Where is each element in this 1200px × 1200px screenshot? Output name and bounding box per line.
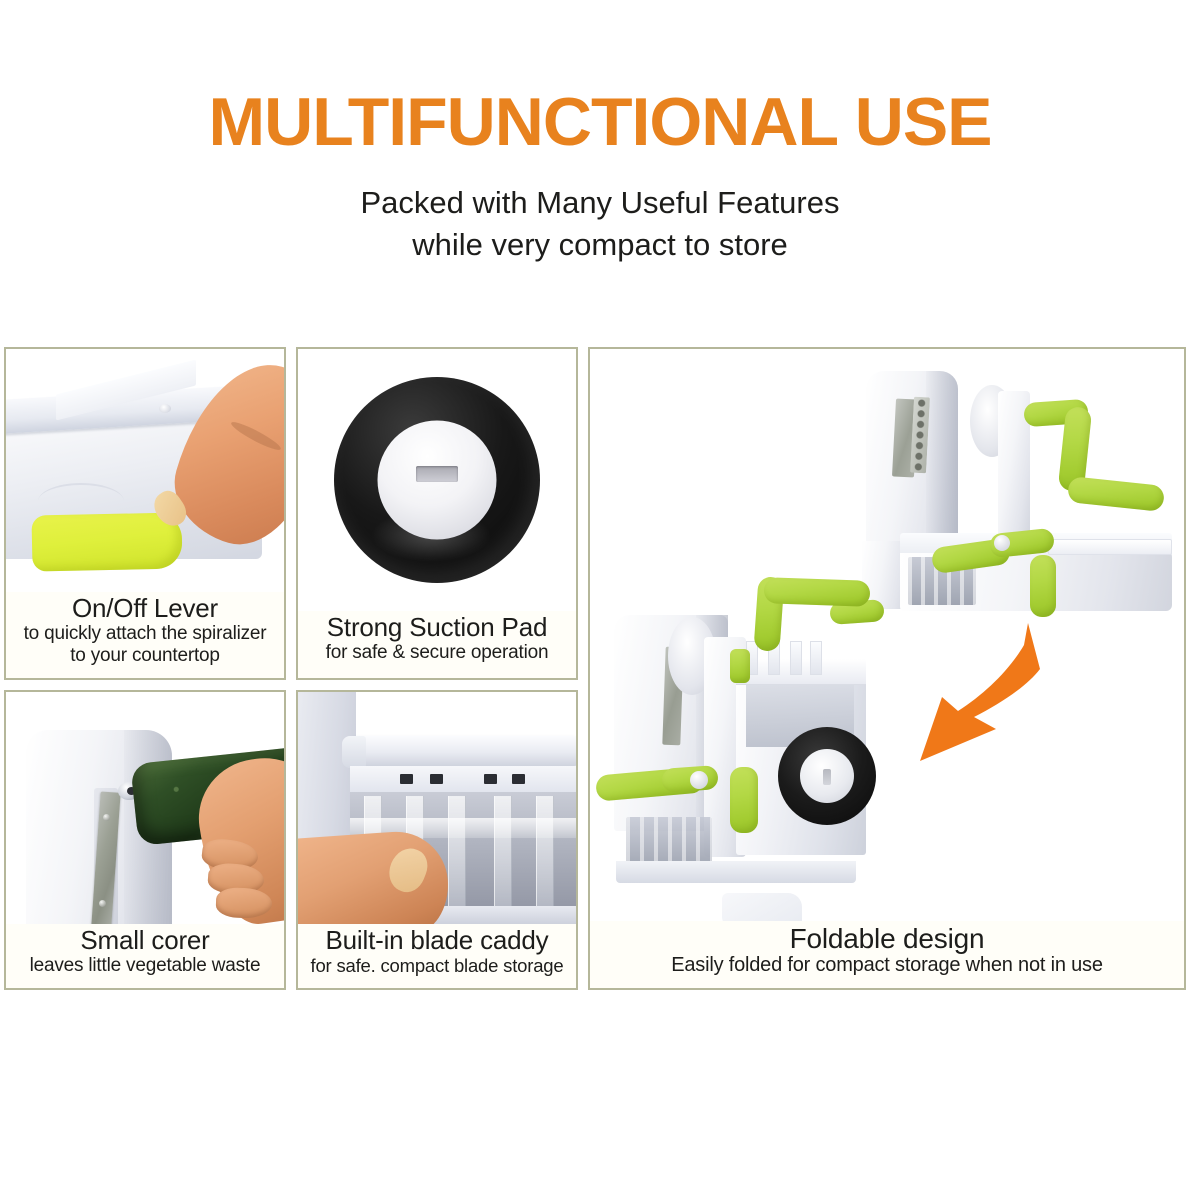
caption-foldable-design: Foldable design Easily folded for compac… (590, 921, 1184, 988)
caddy-top-rail-shape (350, 736, 576, 766)
folded-green-tab-shape (730, 649, 750, 683)
caption-subtitle-line-1: to quickly attach the spiralizer (10, 623, 280, 645)
green-lever-middle-shape (1030, 555, 1056, 617)
feature-panel-on-off-lever: On/Off Lever to quickly attach the spira… (4, 347, 286, 680)
caption-title: Small corer (10, 926, 280, 955)
subtitle-line-1: Packed with Many Useful Features (0, 182, 1200, 224)
photo-suction-pad (298, 349, 576, 611)
feature-panel-suction-pad: Strong Suction Pad for safe & secure ope… (296, 347, 578, 680)
screw-detail-shape (159, 404, 171, 413)
caption-subtitle-line-1: Easily folded for compact storage when n… (594, 954, 1180, 977)
caption-subtitle-line-1: leaves little vegetable waste (10, 955, 280, 977)
folded-fin-3 (790, 641, 802, 675)
feature-panel-foldable-design: Foldable design Easily folded for compac… (588, 347, 1186, 990)
pivot-screw-shape (994, 535, 1010, 551)
suction-pad-slot-shape (823, 769, 831, 785)
folded-pivot-screw-shape (690, 771, 708, 789)
folded-crank-handle-shape (764, 577, 871, 607)
infographic-page: MULTIFUNCTIONAL USE Packed with Many Use… (0, 0, 1200, 1200)
crank-handle-shape (1067, 476, 1165, 512)
caption-blade-caddy: Built-in blade caddy for safe. compact b… (298, 924, 576, 988)
photo-foldable-design (590, 349, 1184, 921)
caption-title: Foldable design (594, 923, 1180, 954)
curved-arrow-down-left-icon (878, 611, 1064, 797)
caption-title: Strong Suction Pad (302, 613, 572, 642)
thumb-shape (298, 828, 451, 924)
folded-lever-vertical-shape (730, 767, 758, 833)
header: MULTIFUNCTIONAL USE Packed with Many Use… (0, 0, 1200, 265)
page-title: MULTIFUNCTIONAL USE (0, 88, 1200, 156)
blade-rivet-top-shape (103, 814, 110, 821)
caption-subtitle-line-1: for safe. compact blade storage (302, 955, 572, 976)
caption-title: Built-in blade caddy (302, 926, 572, 955)
caption-title: On/Off Lever (10, 594, 280, 623)
page-subtitle: Packed with Many Useful Features while v… (0, 182, 1200, 265)
photo-blade-caddy (298, 692, 576, 924)
caption-subtitle-line-1: for safe & secure operation (302, 642, 572, 664)
caddy-notch-1 (400, 774, 413, 784)
folded-base-plate-shape (616, 861, 856, 883)
blade-slot-5 (536, 796, 554, 918)
blade-slot-3 (448, 796, 466, 918)
caddy-notch-4 (512, 774, 525, 784)
suction-pad-slot-shape (416, 466, 458, 482)
blade-rivet-bottom-shape (99, 900, 106, 907)
caption-small-corer: Small corer leaves little vegetable wast… (6, 924, 284, 988)
blade-slot-4 (494, 796, 512, 918)
photo-on-off-lever (6, 349, 284, 592)
tray-rail-shape (1048, 539, 1172, 555)
caddy-shelf-shape (350, 766, 576, 792)
foreground-part-shape (722, 893, 802, 921)
caddy-notch-2 (430, 774, 443, 784)
photo-small-corer (6, 692, 284, 924)
folded-fin-4 (810, 641, 822, 675)
caddy-rail-end-cap-shape (342, 736, 366, 768)
photo-upper-white-area (356, 692, 576, 736)
caption-on-off-lever: On/Off Lever to quickly attach the spira… (6, 592, 284, 678)
caption-subtitle-line-2: to your countertop (10, 645, 280, 667)
suction-pad-outer-ring-shape (334, 377, 540, 583)
tower-shading-shape (926, 371, 958, 547)
subtitle-line-2: while very compact to store (0, 224, 1200, 266)
folded-caddy-bars-shape (626, 817, 712, 867)
feature-panel-blade-caddy: Built-in blade caddy for safe. compact b… (296, 690, 578, 990)
caddy-notch-3 (484, 774, 497, 784)
on-off-lever-shape (31, 512, 182, 571)
feature-panel-small-corer: Small corer leaves little vegetable wast… (4, 690, 286, 990)
caption-suction-pad: Strong Suction Pad for safe & secure ope… (298, 611, 576, 678)
suction-pad-group (298, 349, 576, 611)
